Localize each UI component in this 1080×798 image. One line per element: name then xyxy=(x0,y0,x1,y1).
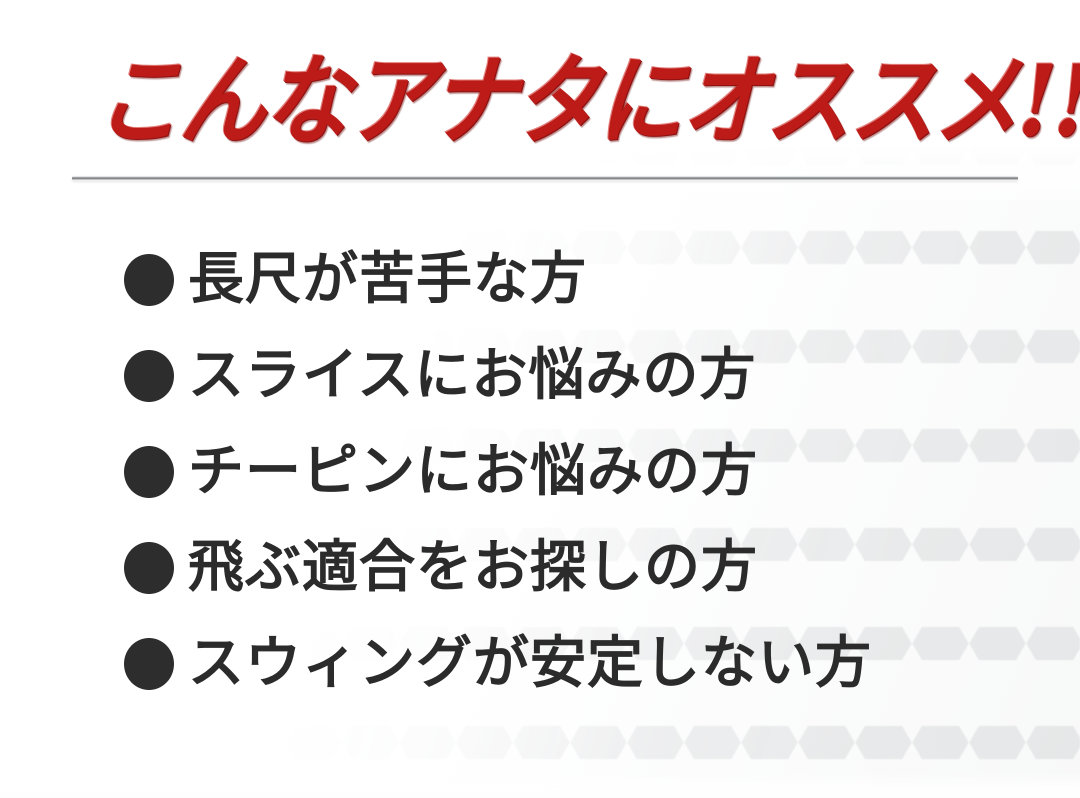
filled-circle-bullet-icon xyxy=(124,350,174,402)
list-item-label: スウィングが安定しない方 xyxy=(188,636,872,692)
promo-slide: こんなアナタにオススメ!! 長尺が苦手な方 スライスにお悩みの方 チーピンにお悩… xyxy=(0,0,1080,798)
list-item-label: チーピンにお悩みの方 xyxy=(188,444,758,500)
list-item-label: 長尺が苦手な方 xyxy=(188,252,587,308)
list-item-label: スライスにお悩みの方 xyxy=(188,348,756,404)
list-item-label: 飛ぶ適合をお探しの方 xyxy=(188,540,758,596)
list-item: スライスにお悩みの方 xyxy=(0,328,1080,424)
filled-circle-bullet-icon xyxy=(124,542,174,594)
recommendation-list: 長尺が苦手な方 スライスにお悩みの方 チーピンにお悩みの方 飛ぶ適合をお探しの方… xyxy=(0,232,1080,712)
filled-circle-bullet-icon xyxy=(124,638,174,690)
page-title: こんなアナタにオススメ!! xyxy=(93,45,1018,159)
title-divider xyxy=(72,176,1018,181)
background-bottom-fade xyxy=(0,772,1080,798)
list-item: 長尺が苦手な方 xyxy=(0,232,1080,328)
filled-circle-bullet-icon xyxy=(124,254,174,306)
header: こんなアナタにオススメ!! xyxy=(0,52,1080,152)
list-item: チーピンにお悩みの方 xyxy=(0,424,1080,520)
filled-circle-bullet-icon xyxy=(124,446,174,498)
list-item: 飛ぶ適合をお探しの方 xyxy=(0,520,1080,616)
list-item: スウィングが安定しない方 xyxy=(0,616,1080,712)
